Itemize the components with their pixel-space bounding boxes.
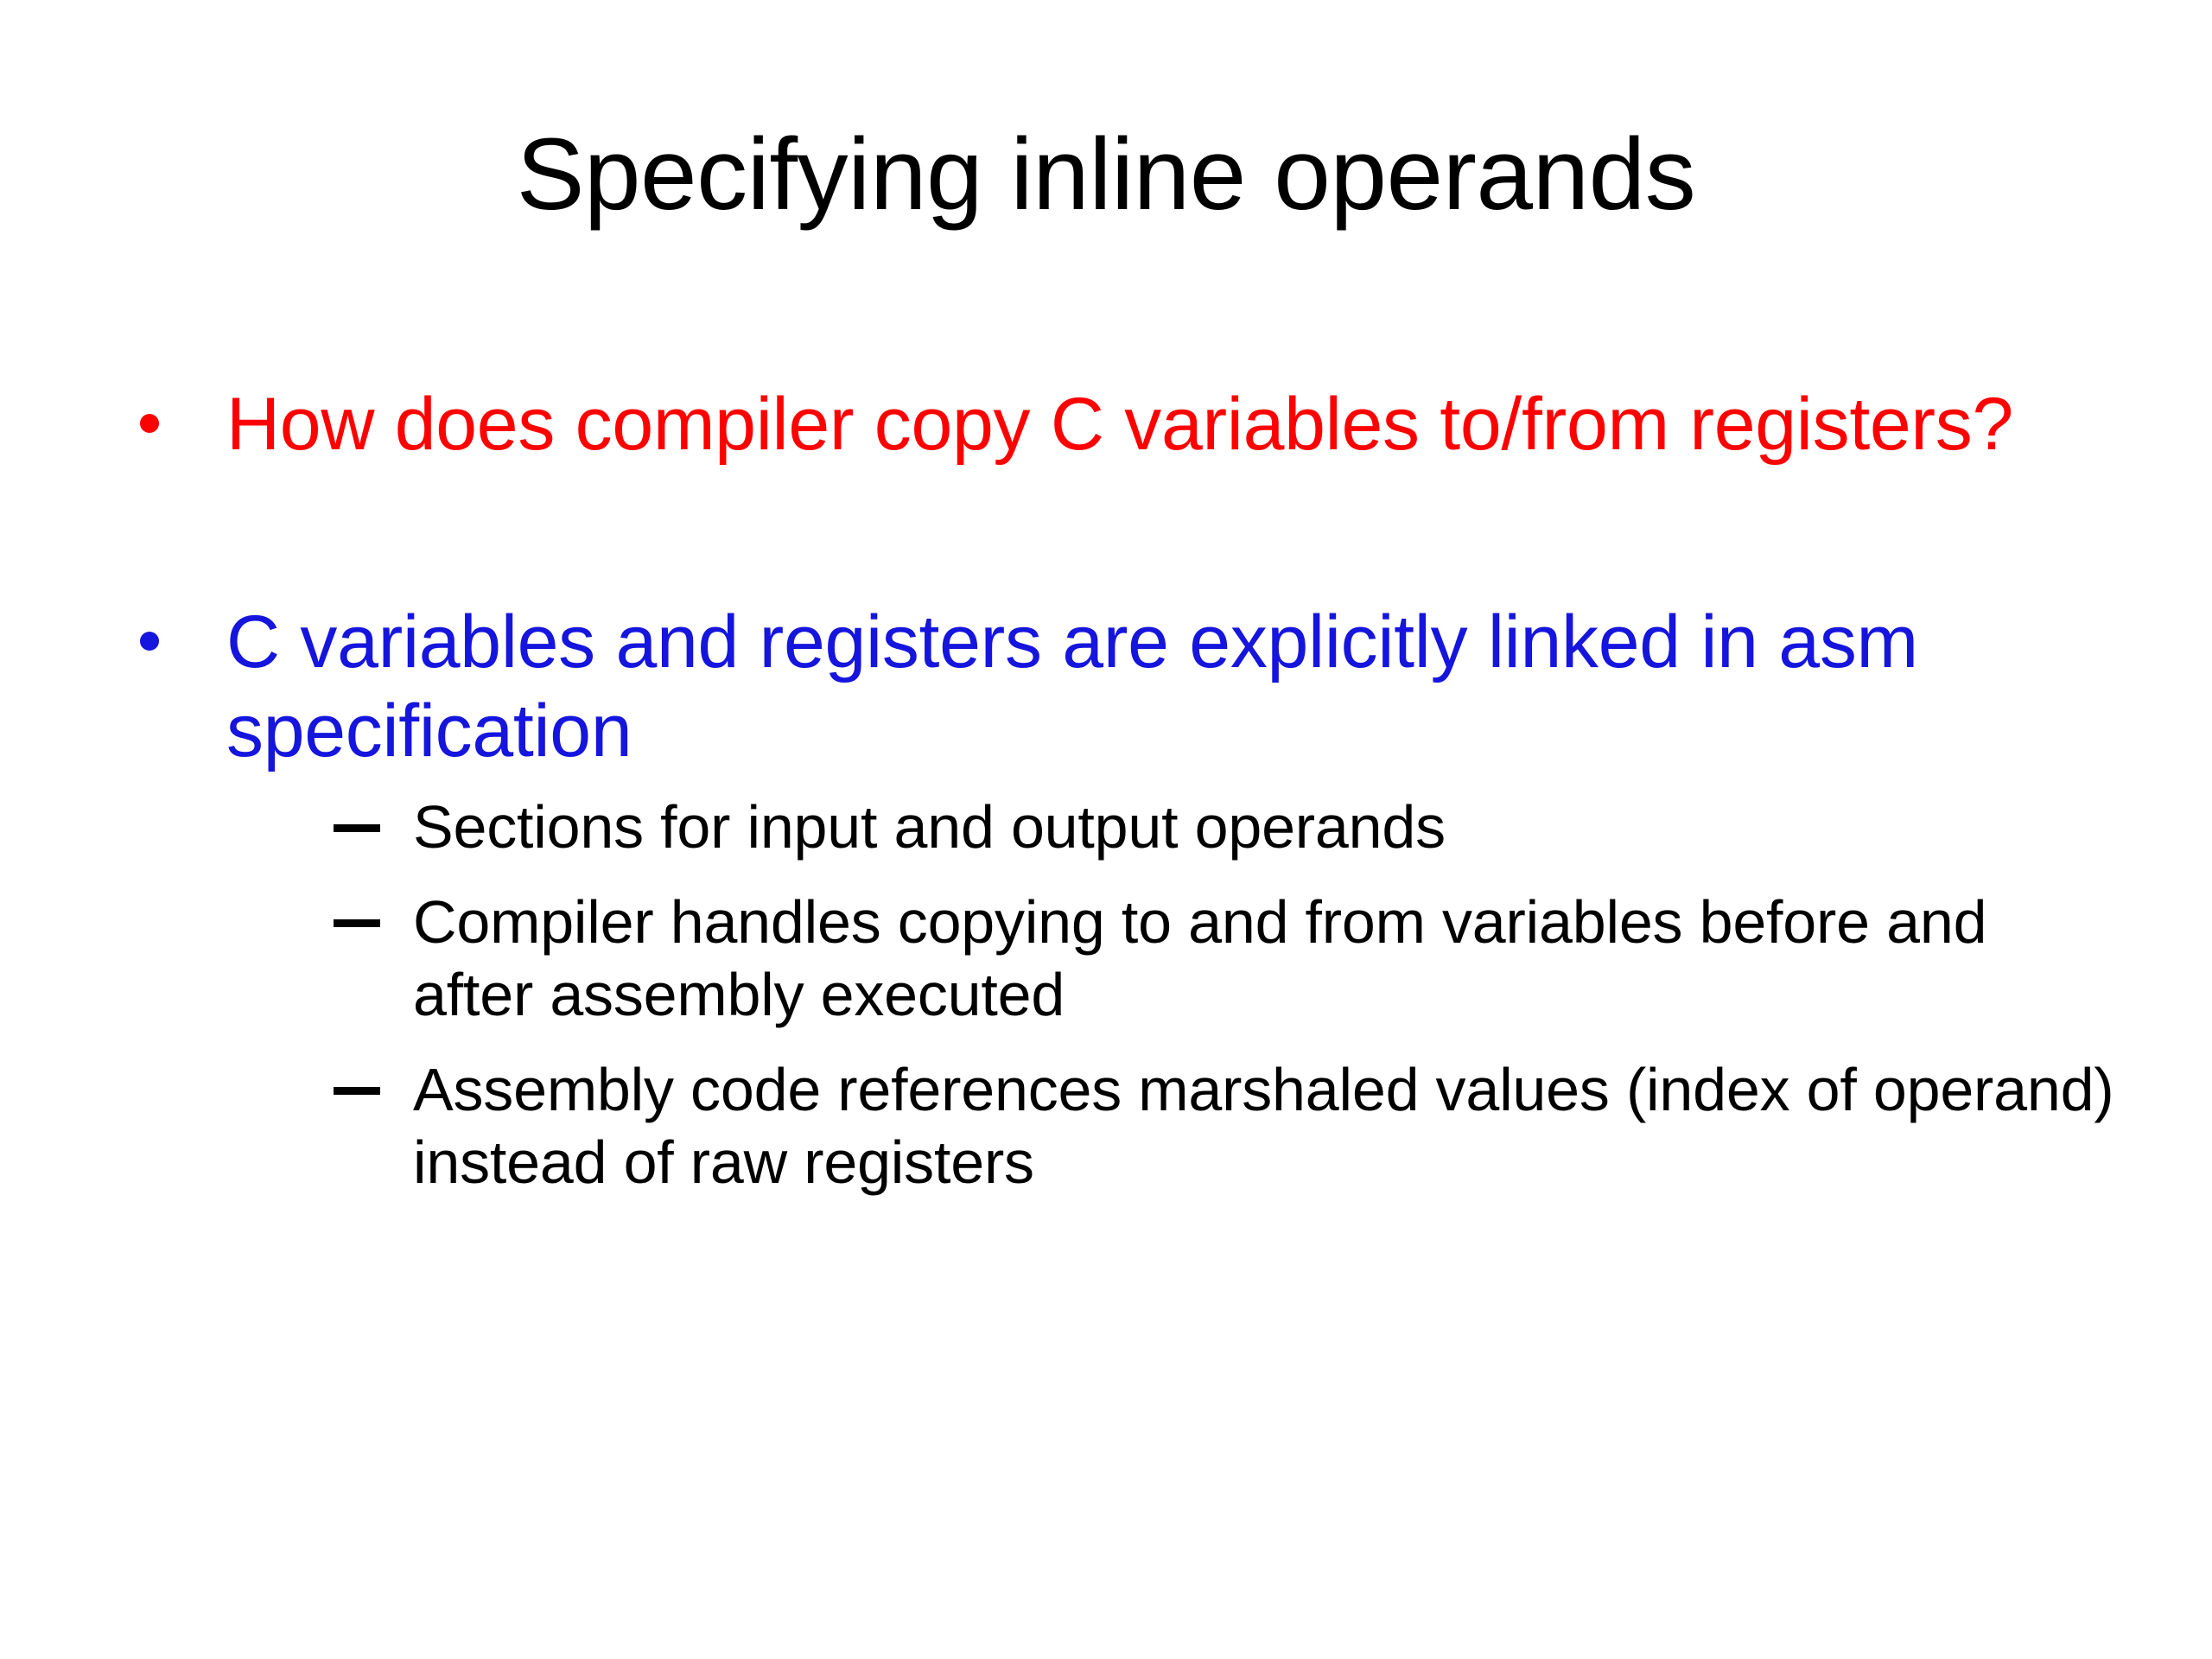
sub-bullet-text: Sections for input and output operands — [413, 791, 2117, 863]
slide-body: How does compiler copy C variables to/fr… — [130, 380, 2117, 1198]
sub-bullet-item: Sections for input and output operands — [320, 791, 2117, 863]
round-bullet-icon — [140, 632, 159, 651]
dash-bullet-icon — [334, 1087, 380, 1095]
sub-bullet-item: Compiler handles copying to and from var… — [320, 886, 2117, 1031]
bullet-spacer — [130, 468, 2117, 598]
round-bullet-icon — [140, 414, 159, 433]
bullet-item-blue: C variables and registers are explicitly… — [130, 598, 2117, 1198]
slide-title: Specifying inline operands — [138, 117, 2074, 233]
bullet-list: How does compiler copy C variables to/fr… — [130, 380, 2117, 1198]
bullet-item-red: How does compiler copy C variables to/fr… — [130, 380, 2117, 468]
bullet-text-red: How does compiler copy C variables to/fr… — [226, 380, 2117, 468]
sub-bullet-list: Sections for input and output operands C… — [226, 791, 2117, 1198]
sub-bullet-text: Compiler handles copying to and from var… — [413, 886, 2117, 1031]
dash-bullet-icon — [334, 919, 380, 927]
sub-bullet-item: Assembly code references marshaled value… — [320, 1053, 2117, 1198]
sub-bullet-text: Assembly code references marshaled value… — [413, 1053, 2117, 1198]
bullet-text-blue: C variables and registers are explicitly… — [226, 598, 2117, 775]
presentation-slide: Specifying inline operands How does comp… — [0, 0, 2212, 1659]
dash-bullet-icon — [334, 824, 380, 832]
